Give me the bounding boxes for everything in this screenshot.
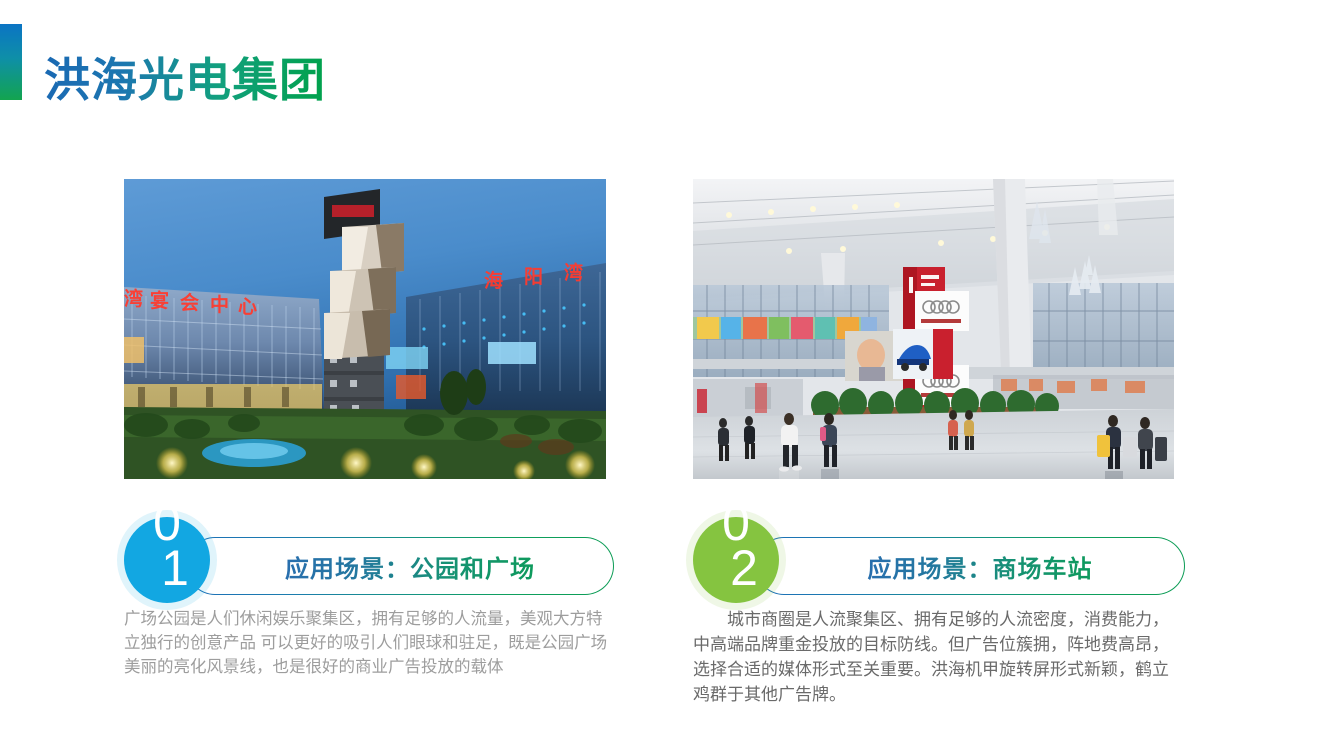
svg-text:湾: 湾 xyxy=(564,261,583,284)
card-body-wrap-1: 广场公园是人们休闲娱乐聚集区，拥有足够的人流量，美观大方特立独行的创意产品 可以… xyxy=(124,607,612,679)
card-pill-label-1: 应用场景：公园和广场 xyxy=(265,549,535,584)
card-body-text-1: 广场公园是人们休闲娱乐聚集区，拥有足够的人流量，美观大方特立独行的创意产品 可以… xyxy=(124,607,612,679)
station-terminal-interior-led-photo xyxy=(693,179,1174,479)
header-accent-bar xyxy=(0,24,22,100)
card-body-text-2: 城市商圈是人流聚集区、拥有足够的人流密度，消费能力，中高端品牌重金投放的目标防线… xyxy=(693,607,1177,707)
svg-text:阳: 阳 xyxy=(524,266,543,288)
svg-text:会: 会 xyxy=(180,291,199,314)
slide-root: 洪海光电集团 xyxy=(0,0,1333,750)
card-number-circle-2 xyxy=(693,517,779,603)
card-column-2: 0 2 应用场景：商场车站 城市商圈是人流聚集区、拥有足够的人流密度，消费能力，… xyxy=(693,179,1174,479)
card-body-wrap-2: 城市商圈是人流聚集区、拥有足够的人流密度，消费能力，中高端品牌重金投放的目标防线… xyxy=(693,607,1177,707)
svg-text:心: 心 xyxy=(238,296,257,318)
card-badge-row-2: 0 2 应用场景：商场车站 xyxy=(693,517,1185,613)
card-pill-2[interactable]: 应用场景：商场车站 xyxy=(755,537,1185,595)
plaza-park-led-tower-night-photo: 湾宴 会中心 xyxy=(124,179,606,479)
svg-text:宴: 宴 xyxy=(150,289,169,312)
svg-text:中: 中 xyxy=(210,293,229,316)
card-column-1: 湾宴 会中心 xyxy=(124,179,606,479)
card-pill-label-2: 应用场景：商场车站 xyxy=(848,549,1093,584)
card-pill-1[interactable]: 应用场景：公园和广场 xyxy=(186,537,614,595)
svg-text:海: 海 xyxy=(484,269,503,292)
page-title: 洪海光电集团 xyxy=(44,52,326,108)
card-badge-row-1: 0 1 应用场景：公园和广场 xyxy=(124,517,614,613)
card-number-circle-1 xyxy=(124,517,210,603)
svg-text:湾: 湾 xyxy=(124,287,143,310)
